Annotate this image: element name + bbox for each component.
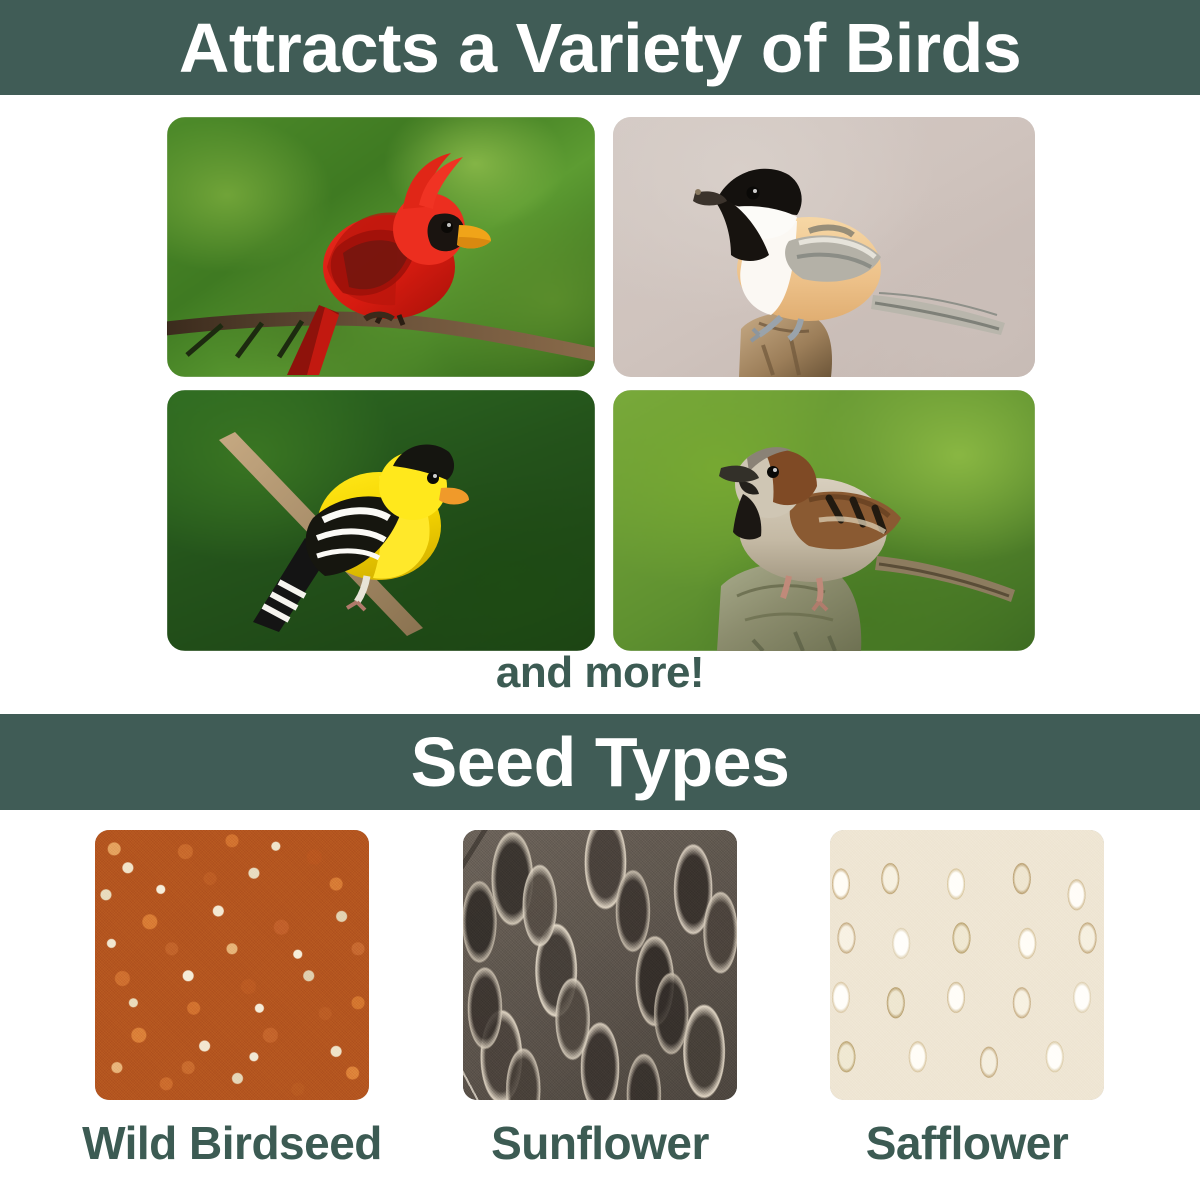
seed-item-wild-birdseed: Wild Birdseed [95,830,369,1170]
bird-photo-american-goldfinch [167,390,595,651]
seed-item-safflower: Safflower [830,830,1104,1170]
bird-photo-grid [167,117,1035,651]
sparrow-illustration [613,390,1035,651]
wild-birdseed-grain [95,830,369,1100]
seed-label-safflower: Safflower [800,1116,1134,1170]
bird-photo-black-capped-chickadee [613,117,1035,377]
wild-birdseed-swatch [95,830,369,1100]
and-more-caption: and more! [0,648,1200,698]
goldfinch-illustration [167,390,595,651]
seed-types-row: Wild Birdseed Sunflower Safflower [0,830,1200,1190]
seed-item-sunflower: Sunflower [463,830,737,1170]
attracts-birds-banner: Attracts a Variety of Birds [0,0,1200,95]
sunflower-grain [463,830,737,1100]
safflower-swatch [830,830,1104,1100]
seed-types-banner: Seed Types [0,714,1200,810]
seed-label-sunflower: Sunflower [433,1116,767,1170]
seed-label-wild-birdseed: Wild Birdseed [55,1116,409,1170]
sunflower-swatch [463,830,737,1100]
infographic-page: Attracts a Variety of Birds [0,0,1200,1200]
page-title: Attracts a Variety of Birds [179,13,1021,83]
bird-photo-northern-cardinal [167,117,595,377]
safflower-grain [830,830,1104,1100]
bird-photo-house-sparrow [613,390,1035,651]
seed-types-title: Seed Types [411,727,790,797]
chickadee-illustration [613,117,1035,377]
cardinal-illustration [167,117,595,377]
